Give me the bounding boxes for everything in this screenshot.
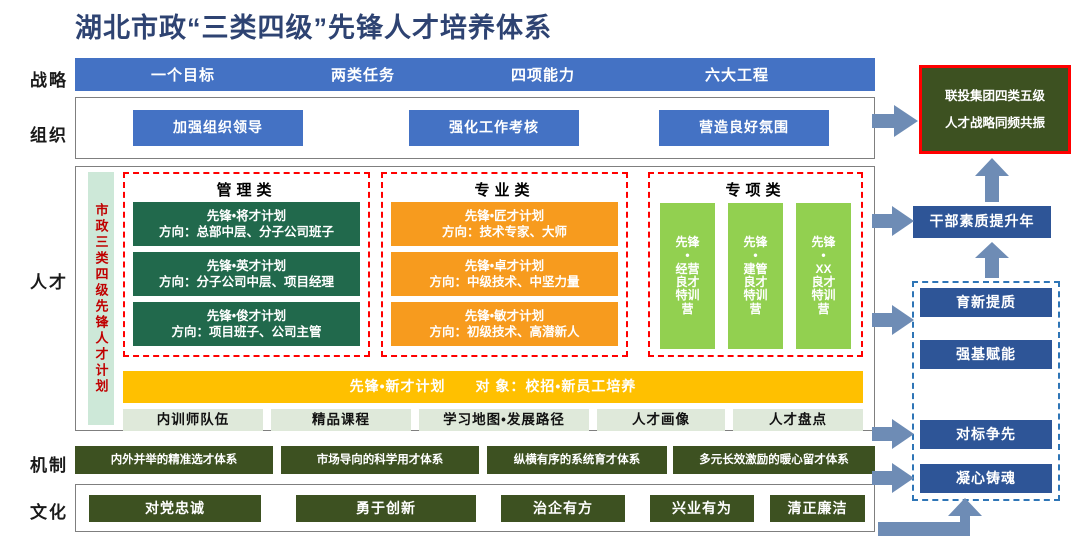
arrow-up-to-middle	[975, 242, 1011, 280]
row-label-mechanism: 机制	[18, 451, 80, 476]
right-top-goal-box[interactable]: 联投集团四类五级 人才战略同频共振	[919, 65, 1071, 154]
talent-plan-title: 先锋•卓才计划	[465, 258, 544, 274]
talent-plan-box[interactable]: 先锋•俊才计划 方向：项目班子、公司主管	[133, 302, 360, 346]
strategy-item-1[interactable]: 一个目标	[97, 58, 269, 91]
talent-plan-title: 先锋•匠才计划	[465, 208, 544, 224]
strategy-item-4[interactable]: 六大工程	[637, 58, 837, 91]
camp-line: 营	[681, 303, 693, 316]
right-group-item[interactable]: 强基赋能	[920, 340, 1052, 369]
arrow-elbow-culture-to-soul	[878, 498, 1010, 540]
camp-line: 特训	[811, 289, 835, 302]
talent-vertical-label: 市政三类四级先锋人才计划	[88, 172, 114, 425]
diagram-canvas: 湖北市政“三类四级”先锋人才培养体系 战略 组织 人才 机制 文化 一个目标 两…	[0, 0, 1080, 543]
camp-line: 营	[749, 303, 761, 316]
page-title: 湖北市政“三类四级”先锋人才培养体系	[75, 6, 552, 45]
special-camp-box[interactable]: 先锋 • 经营 良才 特训 营	[660, 203, 715, 349]
arrow-right-to-group-top	[872, 305, 916, 337]
organization-item-1[interactable]: 加强组织领导	[133, 110, 303, 146]
talent-plan-box[interactable]: 先锋•卓才计划 方向：中级技术、中坚力量	[391, 252, 618, 296]
support-item[interactable]: 人才盘点	[733, 409, 863, 431]
goal-line-2: 人才战略同频共振	[945, 110, 1045, 136]
arrow-right-to-goal	[872, 105, 920, 139]
talent-plan-title: 先锋•敏才计划	[465, 308, 544, 324]
row-label-culture: 文化	[18, 498, 80, 523]
special-camp-box[interactable]: 先锋 • 建管 良才 特训 营	[728, 203, 783, 349]
mechanism-item[interactable]: 市场导向的科学用才体系	[281, 446, 479, 474]
right-group-item[interactable]: 育新提质	[920, 288, 1052, 317]
mechanism-item[interactable]: 内外并举的精准选才体系	[75, 446, 273, 474]
row-label-organization: 组织	[18, 121, 80, 146]
talent-plan-box[interactable]: 先锋•匠才计划 方向：技术专家、大师	[391, 202, 618, 246]
talent-plan-title: 先锋•将才计划	[207, 208, 286, 224]
camp-line: 建管	[743, 263, 767, 276]
support-item[interactable]: 人才画像	[597, 409, 725, 431]
strategy-item-2[interactable]: 两类任务	[277, 58, 449, 91]
new-talent-bar[interactable]: 先锋•新才计划 对 象：校招•新员工培养	[123, 371, 863, 403]
culture-item[interactable]: 兴业有为	[650, 495, 754, 522]
camp-line: 特训	[675, 289, 699, 302]
culture-item[interactable]: 治企有方	[501, 495, 625, 522]
row-label-strategy: 战略	[18, 66, 80, 91]
talent-plan-box[interactable]: 先锋•将才计划 方向：总部中层、分子公司班子	[133, 202, 360, 246]
strategy-item-3[interactable]: 四项能力	[457, 58, 629, 91]
camp-line: 营	[817, 303, 829, 316]
camp-line: •	[753, 249, 757, 262]
arrow-right-to-benchmark	[872, 419, 916, 451]
camp-line: 先锋	[811, 236, 835, 249]
arrow-right-to-middle	[872, 206, 916, 238]
talent-plan-title: 先锋•俊才计划	[207, 308, 286, 324]
mechanism-item[interactable]: 纵横有序的系统育才体系	[487, 446, 667, 474]
mechanism-item[interactable]: 多元长效激励的暖心留才体系	[673, 446, 875, 474]
right-group-item[interactable]: 凝心铸魂	[920, 464, 1052, 493]
support-item[interactable]: 内训师队伍	[123, 409, 263, 431]
talent-plan-direction: 方向：技术专家、大师	[442, 224, 567, 240]
goal-line-1: 联投集团四类五级	[945, 83, 1045, 109]
category-title-special: 专项类	[648, 179, 863, 200]
support-item[interactable]: 学习地图•发展路径	[419, 409, 589, 431]
special-camp-box[interactable]: 先锋 • XX 良才 特训 营	[796, 203, 851, 349]
right-middle-box[interactable]: 干部素质提升年	[913, 206, 1051, 238]
camp-line: 先锋	[743, 236, 767, 249]
culture-item[interactable]: 勇于创新	[296, 495, 476, 522]
camp-line: •	[685, 249, 689, 262]
right-group-item[interactable]: 对标争先	[920, 420, 1052, 449]
category-title-professional: 专业类	[381, 179, 628, 200]
row-label-talent: 人才	[18, 268, 80, 293]
camp-line: XX	[815, 263, 831, 276]
talent-plan-direction: 方向：中级技术、中坚力量	[429, 274, 579, 290]
talent-plan-box[interactable]: 先锋•英才计划 方向：分子公司中层、项目经理	[133, 252, 360, 296]
camp-line: 经营	[675, 263, 699, 276]
arrow-up-to-goal	[975, 158, 1011, 204]
talent-plan-box[interactable]: 先锋•敏才计划 方向：初级技术、高潜新人	[391, 302, 618, 346]
category-title-management: 管理类	[123, 179, 370, 200]
culture-item[interactable]: 对党忠诚	[89, 495, 261, 522]
organization-item-2[interactable]: 强化工作考核	[409, 110, 579, 146]
talent-plan-direction: 方向：分子公司中层、项目经理	[159, 274, 334, 290]
talent-plan-direction: 方向：项目班子、公司主管	[171, 324, 321, 340]
talent-plan-direction: 方向：初级技术、高潜新人	[429, 324, 579, 340]
culture-item[interactable]: 清正廉洁	[770, 495, 865, 522]
camp-line: 特训	[743, 289, 767, 302]
organization-item-3[interactable]: 营造良好氛围	[659, 110, 829, 146]
talent-plan-direction: 方向：总部中层、分子公司班子	[159, 224, 334, 240]
camp-line: 先锋	[675, 236, 699, 249]
support-item[interactable]: 精品课程	[271, 409, 411, 431]
talent-plan-title: 先锋•英才计划	[207, 258, 286, 274]
camp-line: •	[821, 249, 825, 262]
arrow-right-to-soul	[872, 463, 916, 495]
